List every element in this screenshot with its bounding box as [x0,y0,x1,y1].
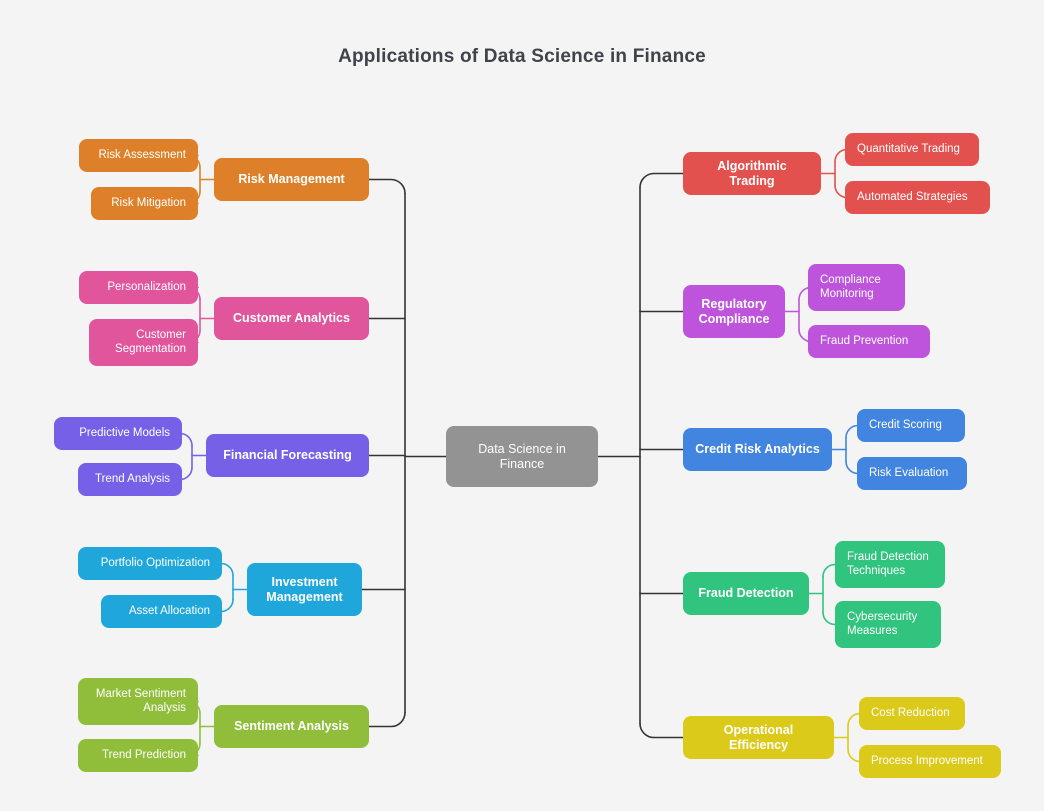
leaf-node-credit-risk-analytics-1[interactable]: Risk Evaluation [857,457,967,490]
leaf-node-algorithmic-trading-1[interactable]: Automated Strategies [845,181,990,214]
branch-node-financial-forecasting[interactable]: Financial Forecasting [206,434,369,477]
mindmap-canvas: Applications of Data Science in Finance … [0,0,1044,811]
leaf-node-fraud-detection-0[interactable]: Fraud Detection Techniques [835,541,945,588]
branch-node-risk-management[interactable]: Risk Management [214,158,369,201]
leaf-node-customer-analytics-0[interactable]: Personalization [79,271,198,304]
leaf-node-investment-management-1[interactable]: Asset Allocation [101,595,222,628]
branch-node-investment-management[interactable]: Investment Management [247,563,362,616]
branch-node-fraud-detection[interactable]: Fraud Detection [683,572,809,615]
leaf-node-customer-analytics-1[interactable]: Customer Segmentation [89,319,198,366]
leaf-node-operational-efficiency-1[interactable]: Process Improvement [859,745,1001,778]
leaf-node-risk-management-1[interactable]: Risk Mitigation [91,187,198,220]
leaf-node-sentiment-analysis-0[interactable]: Market Sentiment Analysis [78,678,198,725]
branch-node-algorithmic-trading[interactable]: Algorithmic Trading [683,152,821,195]
leaf-node-operational-efficiency-0[interactable]: Cost Reduction [859,697,965,730]
leaf-node-regulatory-compliance-1[interactable]: Fraud Prevention [808,325,930,358]
leaf-node-algorithmic-trading-0[interactable]: Quantitative Trading [845,133,979,166]
page-title: Applications of Data Science in Finance [0,46,1044,68]
branch-node-operational-efficiency[interactable]: Operational Efficiency [683,716,834,759]
leaf-node-risk-management-0[interactable]: Risk Assessment [79,139,198,172]
leaf-node-credit-risk-analytics-0[interactable]: Credit Scoring [857,409,965,442]
branch-node-customer-analytics[interactable]: Customer Analytics [214,297,369,340]
branch-node-sentiment-analysis[interactable]: Sentiment Analysis [214,705,369,748]
leaf-node-sentiment-analysis-1[interactable]: Trend Prediction [78,739,198,772]
leaf-node-fraud-detection-1[interactable]: Cybersecurity Measures [835,601,941,648]
branch-node-credit-risk-analytics[interactable]: Credit Risk Analytics [683,428,832,471]
branch-node-regulatory-compliance[interactable]: Regulatory Compliance [683,285,785,338]
leaf-node-financial-forecasting-0[interactable]: Predictive Models [54,417,182,450]
root-node[interactable]: Data Science in Finance [446,426,598,487]
leaf-node-regulatory-compliance-0[interactable]: Compliance Monitoring [808,264,905,311]
leaf-node-investment-management-0[interactable]: Portfolio Optimization [78,547,222,580]
leaf-node-financial-forecasting-1[interactable]: Trend Analysis [78,463,182,496]
